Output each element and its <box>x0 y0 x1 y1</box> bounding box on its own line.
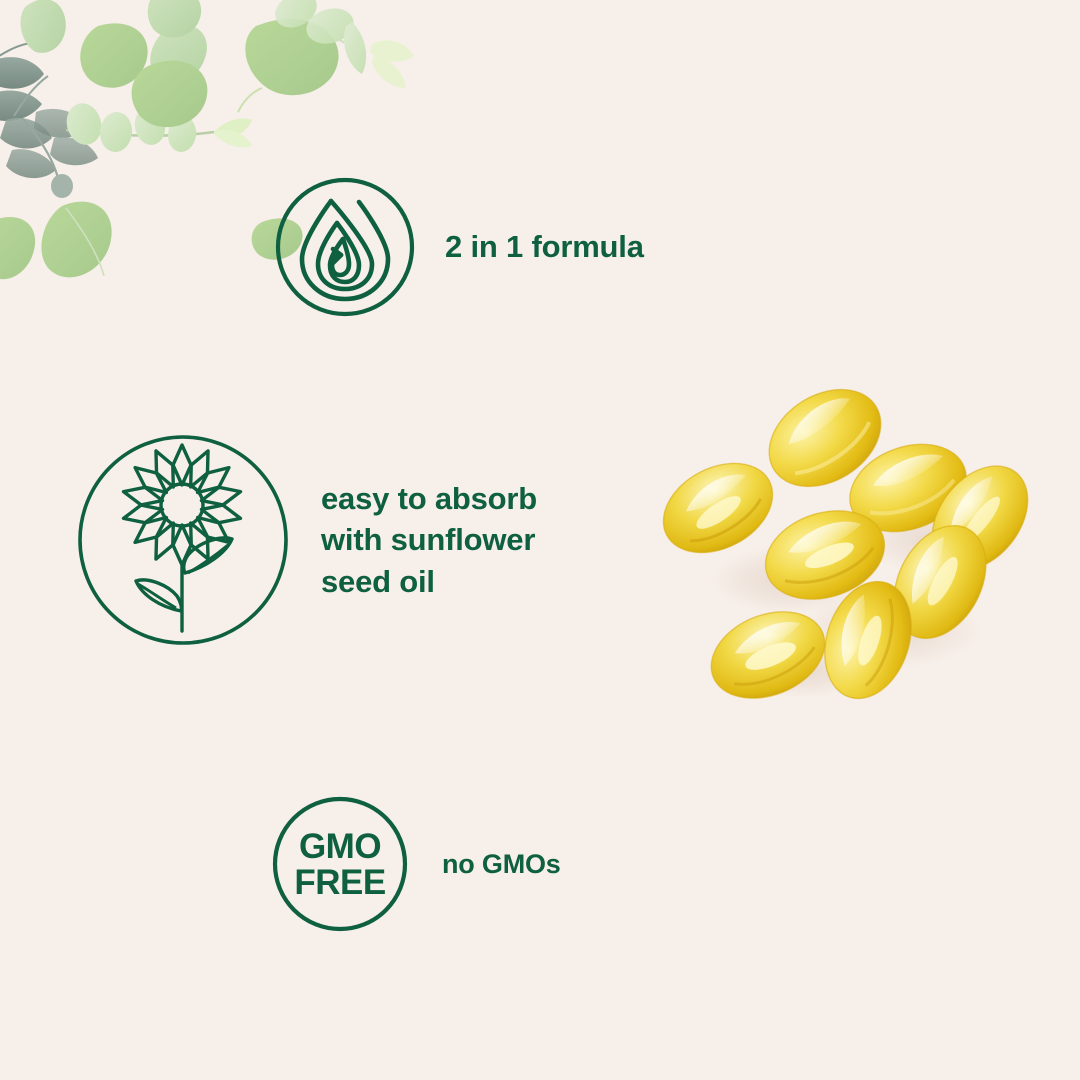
softgel-capsules-svg <box>640 360 1040 720</box>
softgel-capsules-image <box>640 360 1040 720</box>
sunflower-icon <box>78 435 288 645</box>
feature-label-formula: 2 in 1 formula <box>445 228 644 267</box>
feature-row-gmo: GMO FREE no GMOs <box>272 796 561 932</box>
feature-row-absorb: easy to absorb with sunflower seed oil <box>78 435 537 645</box>
badge-text-free: FREE <box>294 863 385 902</box>
capsule <box>838 429 979 547</box>
capsule <box>698 596 837 714</box>
sunflower-svg <box>78 435 288 645</box>
water-drop-spiral-svg <box>275 177 415 317</box>
water-drop-spiral-icon <box>275 177 415 317</box>
eucalyptus-sprig <box>0 43 98 198</box>
feature-label-absorb-line-3: seed oil <box>321 561 537 602</box>
pale-sprig <box>269 0 414 88</box>
capsule <box>876 510 1005 654</box>
capsule <box>751 370 898 507</box>
badge-text-gmo: GMO <box>299 827 381 866</box>
capsule <box>810 570 925 709</box>
feature-row-formula: 2 in 1 formula <box>275 177 644 317</box>
gmo-free-badge-svg: GMO FREE <box>272 796 408 932</box>
capsule <box>913 448 1047 589</box>
capsule-shadows <box>712 506 1020 698</box>
product-infographic: 2 in 1 formula <box>0 0 1080 1080</box>
round-leaf-sprig <box>62 88 262 154</box>
feature-label-absorb-line-2: with sunflower <box>321 519 537 560</box>
capsule <box>754 496 896 614</box>
gmo-free-badge-icon: GMO FREE <box>272 796 408 932</box>
feature-label-absorb-line-1: easy to absorb <box>321 478 537 519</box>
feature-label-absorb: easy to absorb with sunflower seed oil <box>321 478 537 602</box>
feature-label-gmo: no GMOs <box>442 849 561 880</box>
capsule <box>648 445 788 570</box>
